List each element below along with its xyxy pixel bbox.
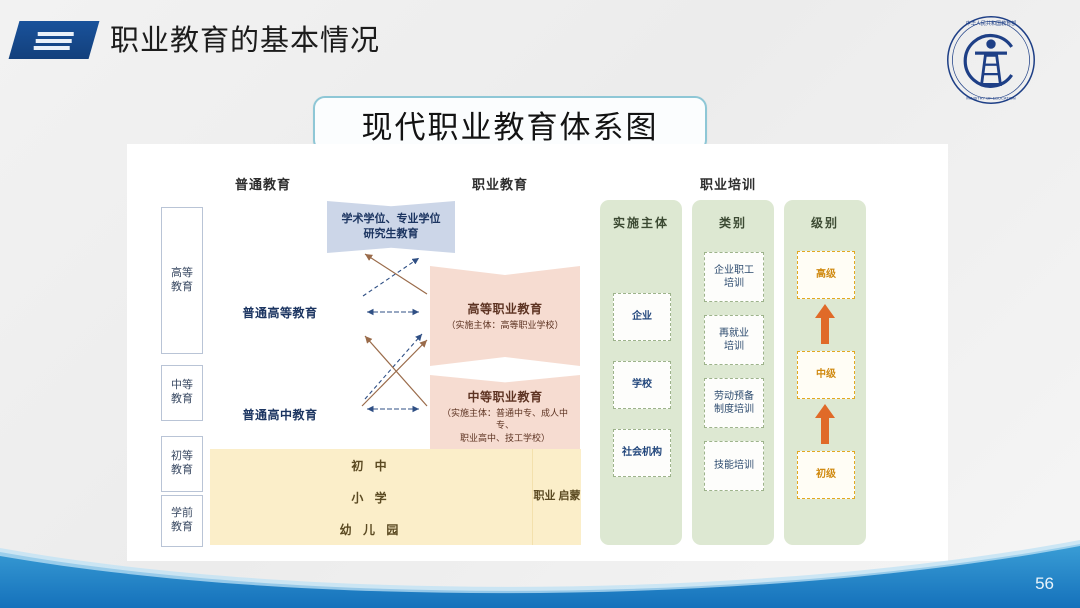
page-number: 56: [1035, 574, 1054, 594]
training-category-item-3: 技能培训: [704, 441, 764, 491]
training-column-category: 类别 企业职工 培训 再就业 培训 劳动预备 制度培训 技能培训: [692, 200, 774, 545]
training-provider-item-2: 社会机构: [613, 429, 671, 477]
basic-row-junior-high: 初 中: [210, 449, 532, 482]
basic-row-primary: 小 学: [210, 481, 532, 514]
training-level-item-advanced: 高级: [797, 251, 855, 299]
hamburger-menu-icon[interactable]: [9, 21, 100, 59]
training-category-item-0: 企业职工 培训: [704, 252, 764, 302]
svg-text:MINISTRY OF EDUCATION: MINISTRY OF EDUCATION: [966, 95, 1015, 100]
training-category-item-2: 劳动预备 制度培训: [704, 378, 764, 428]
level-up-arrow-upper: [814, 304, 836, 344]
training-level-item-primary: 初级: [797, 451, 855, 499]
training-provider-item-0: 企业: [613, 293, 671, 341]
training-level-header: 级别: [784, 214, 866, 231]
training-provider-header: 实施主体: [600, 214, 682, 231]
training-level-item-intermediate: 中级: [797, 351, 855, 399]
training-provider-item-1: 学校: [613, 361, 671, 409]
page-title: 职业教育的基本情况: [110, 17, 380, 59]
diagram-title: 现代职业教育体系图: [362, 102, 659, 147]
training-column-provider: 实施主体 企业 学校 社会机构: [600, 200, 682, 545]
training-category-header: 类别: [692, 214, 774, 231]
training-column-level: 级别 高级 中级 初级: [784, 200, 866, 545]
diagram-canvas: 普通教育 职业教育 职业培训 高等 教育 中等 教育 初等 教育 学前 教育 学…: [127, 144, 948, 561]
svg-text:中华人民共和国教育部: 中华人民共和国教育部: [966, 20, 1017, 27]
vocational-enlightenment-label: 职业 启蒙: [532, 449, 581, 545]
level-up-arrow-lower: [814, 404, 836, 444]
slide-root: 职业教育的基本情况 中华人民共和国教育部 MINISTRY OF EDUCATI…: [0, 0, 1080, 608]
footer-wave: [0, 538, 1080, 608]
ministry-of-education-emblem: 中华人民共和国教育部 MINISTRY OF EDUCATION: [944, 13, 1038, 107]
training-category-item-1: 再就业 培训: [704, 315, 764, 365]
